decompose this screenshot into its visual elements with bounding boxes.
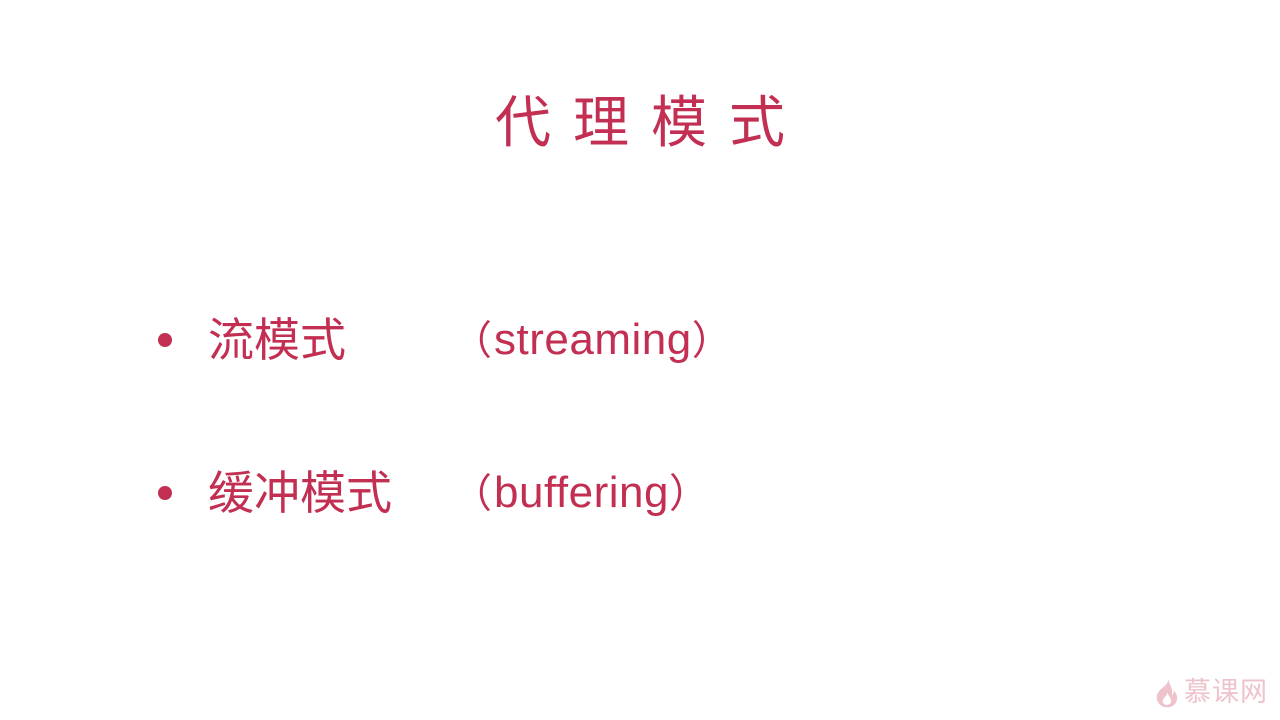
flame-icon: [1155, 678, 1179, 708]
paren-close: ）: [669, 472, 711, 516]
bullet-dot-icon: [158, 486, 172, 500]
slide-canvas: 代理模式 流模式 （streaming） 缓冲模式 （buffering） 慕课…: [0, 0, 1280, 720]
bullet-label-cn: 流模式: [208, 310, 346, 370]
bullet-term-en: streaming: [494, 315, 692, 364]
list-item: 流模式 （streaming）: [150, 310, 1050, 370]
paren-open: （: [452, 472, 494, 516]
bullet-label-cn: 缓冲模式: [208, 463, 392, 523]
paren-open: （: [452, 319, 494, 363]
bullet-term-en: buffering: [494, 468, 669, 517]
page-title: 代理模式: [0, 92, 1280, 154]
bullet-dot-icon: [158, 333, 172, 347]
bullet-list: 流模式 （streaming） 缓冲模式 （buffering）: [150, 310, 1050, 523]
paren-close: ）: [692, 319, 734, 363]
bullet-label-en: （streaming）: [452, 310, 734, 370]
watermark: 慕课网: [1155, 678, 1268, 708]
watermark-text: 慕课网: [1184, 678, 1268, 708]
bullet-label-en: （buffering）: [452, 463, 711, 523]
list-item: 缓冲模式 （buffering）: [150, 463, 1050, 523]
